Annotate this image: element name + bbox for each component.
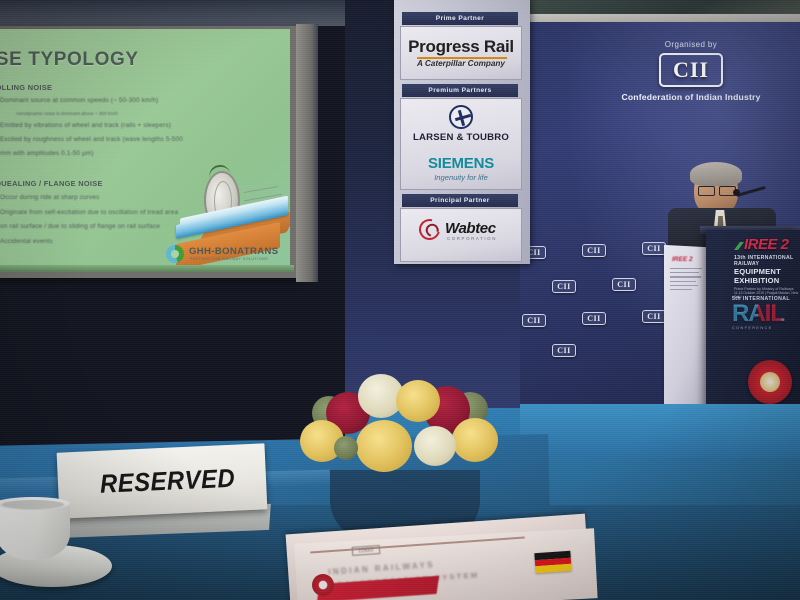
- organiser-sign: Organised by CII Confederation of Indian…: [596, 40, 786, 102]
- ministry-seal-icon: [748, 360, 792, 404]
- ghh-logo-mark-icon: [166, 245, 184, 263]
- podium-event-branding: IREE 2 13th INTERNATIONAL RAILWAY EQUIPM…: [734, 236, 800, 299]
- larsen-toubro-logo-icon: [449, 105, 473, 129]
- cii-wall-tile: CII: [612, 278, 636, 291]
- slide-bullet: Emitted by vibrations of wheel and track…: [0, 122, 171, 129]
- cii-wall-tile: CII: [642, 242, 666, 255]
- slide-bullet: Originate from self-excitation due to os…: [0, 209, 178, 216]
- slide-bullet: Excited by roughness of wheel and track …: [0, 136, 183, 143]
- teacup-interior: [2, 500, 64, 509]
- organised-by-label: Organised by: [596, 40, 786, 49]
- flower-yellow: [452, 418, 498, 462]
- podium-conference-branding: 5th INTERNATIONAL RAIL CONFERENCE: [732, 296, 800, 330]
- sponsor-tier-header-principal: Principal Partner: [402, 194, 518, 207]
- reserved-sign: RESERVED: [57, 443, 268, 518]
- side-banner-text-lines: [670, 268, 702, 310]
- cii-wall-tile: CII: [522, 314, 546, 327]
- slide-title: ISE TYPOLOGY: [0, 49, 139, 71]
- conference-small-label: 5th INTERNATIONAL: [732, 296, 800, 302]
- slide-subnote: Aerodynamic noise is dominant above ~ 30…: [16, 111, 118, 116]
- cii-full-name: Confederation of Indian Industry: [596, 92, 786, 102]
- progress-rail-subtitle: A Caterpillar Company: [401, 59, 521, 68]
- iree-logo-mark-icon: [734, 242, 744, 250]
- presentation-slide: ISE TYPOLOGY ROLLING NOISE Dominant sour…: [0, 29, 290, 267]
- sponsor-tier-header-premium: Premium Partners: [402, 84, 518, 97]
- cii-wall-tile: CII: [582, 244, 606, 257]
- slide-bullet: Accidental events: [0, 238, 53, 245]
- larsen-toubro-name: LARSEN & TOUBRO: [401, 132, 521, 143]
- wabtec-subtitle: CORPORATION: [447, 236, 497, 241]
- reserved-sign-text: RESERVED: [99, 463, 236, 500]
- slide-heading-squealing-noise: SQUEALING / FLANGE NOISE: [0, 179, 103, 188]
- iree-event-acronym: IREE 2: [744, 236, 789, 253]
- siemens-name: SIEMENS: [401, 155, 521, 172]
- siemens-tagline: Ingenuity for life: [401, 173, 521, 182]
- slide-bottom-band: [0, 265, 294, 272]
- side-banner-logo-text: IREE 2: [672, 256, 700, 265]
- cii-wall-tile: CII: [642, 310, 666, 323]
- progress-rail-name: Progress Rail: [401, 37, 521, 57]
- sound-wave-line: [244, 186, 278, 193]
- projection-screen-edge: [296, 24, 318, 282]
- podium-line-2: EQUIPMENT EXHIBITION: [734, 267, 800, 285]
- flower-foliage: [334, 436, 358, 460]
- conference-photo-scene: CII CII CII CII CII CII CII CII CII CII …: [0, 0, 800, 600]
- ghh-logo-tagline: PARTNER FOR RAILWAY SOLUTIONS: [190, 257, 268, 261]
- wabtec-logo-icon: [415, 215, 444, 244]
- cii-logo: CII: [659, 53, 723, 87]
- conference-sub-label: CONFERENCE: [732, 326, 800, 330]
- sponsor-panel-premium: LARSEN & TOUBRO SIEMENS Ingenuity for li…: [400, 98, 522, 190]
- cii-wall-tile: CII: [552, 344, 576, 357]
- slide-bullet: on rail surface / due to sliding of flan…: [0, 223, 160, 230]
- ghh-logo-text: GHH-BONATRANS: [189, 246, 278, 257]
- sponsor-panel-progress-rail: Progress Rail A Caterpillar Company: [400, 26, 522, 80]
- stage-skirt: [520, 404, 800, 458]
- sponsor-board: Prime Partner Progress Rail A Caterpilla…: [394, 0, 530, 264]
- sponsor-tier-header-prime: Prime Partner: [402, 12, 518, 25]
- cii-wall-tile: CII: [552, 280, 576, 293]
- slide-heading-rolling-noise: ROLLING NOISE: [0, 83, 52, 92]
- sponsor-panel-wabtec: Wabtec CORPORATION: [400, 208, 522, 262]
- cii-wall-tile: CII: [582, 312, 606, 325]
- podium-line-1: 13th INTERNATIONAL RAILWAY: [734, 255, 800, 267]
- conference-big-label: RAIL: [732, 302, 800, 326]
- ghh-bonatrans-logo: GHH-BONATRANS PARTNER FOR RAILWAY SOLUTI…: [166, 245, 286, 265]
- slide-bullet: Dominant source at common speeds (~ 50-3…: [0, 97, 158, 104]
- slide-bullet: Occur during ride at sharp curves: [0, 194, 99, 201]
- flower-yellow: [356, 420, 412, 472]
- slide-bullet: mm with amplitudes 0.1-50 µm): [0, 150, 94, 157]
- brochure-stamp: LOGO: [352, 545, 381, 556]
- flower-yellow: [396, 380, 440, 422]
- speaker-glasses-icon: [698, 186, 736, 194]
- speaker-hair: [690, 162, 742, 186]
- microphone-icon: [733, 189, 740, 196]
- wabtec-name: Wabtec: [445, 220, 496, 237]
- flower-white: [414, 426, 456, 466]
- german-flag-icon: [534, 551, 571, 573]
